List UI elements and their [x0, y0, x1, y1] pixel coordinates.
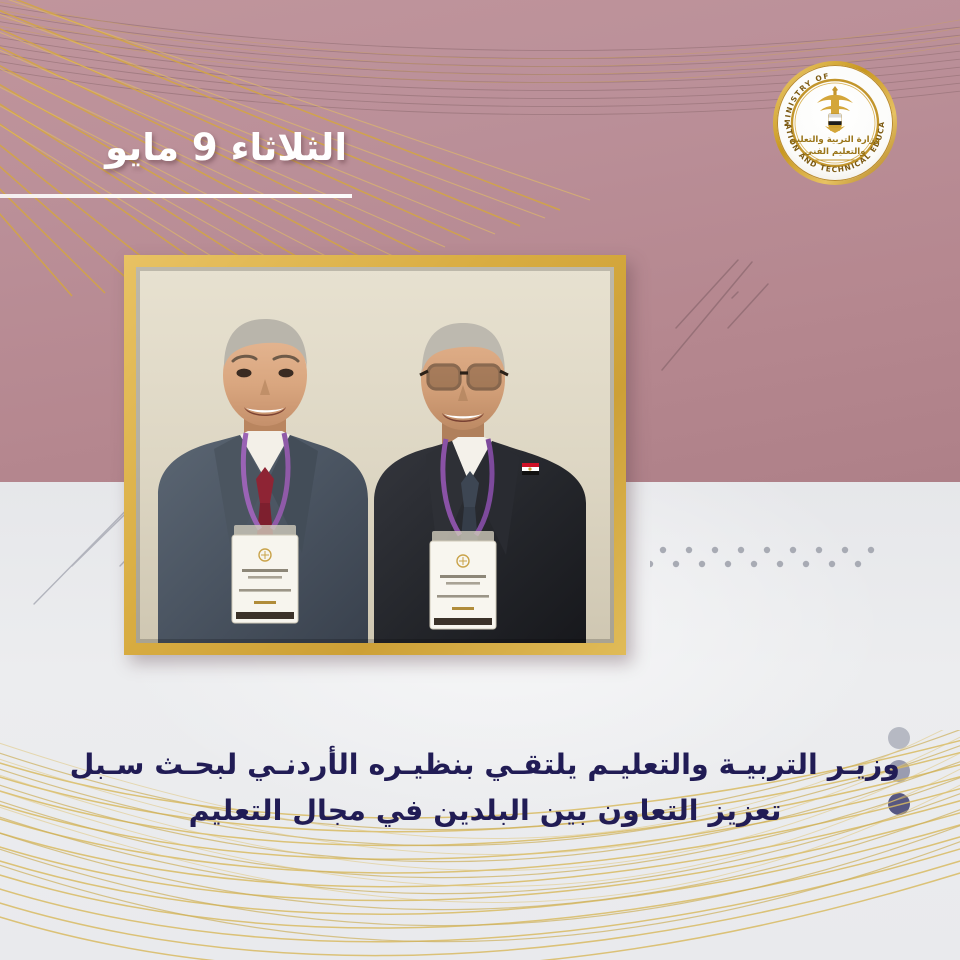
- headline-line-1: وزيـر التربيـة والتعليـم يلتقـي بنظيـره …: [70, 742, 900, 788]
- photo-frame: [124, 255, 626, 655]
- photo-illustration: [136, 267, 614, 643]
- svg-text:والتعليم الفني: والتعليم الفني: [804, 147, 865, 157]
- headline: وزيـر التربيـة والتعليـم يلتقـي بنظيـره …: [70, 742, 900, 834]
- dot-grid-pattern: [650, 542, 880, 578]
- headline-line-2: تعزيز التعاون بين البلدين في مجال التعلي…: [70, 788, 900, 834]
- meeting-photo: [136, 267, 614, 643]
- date-underline-rule: [0, 194, 352, 198]
- ministry-logo: EDUCATION AND TECHNICAL EDUCATION MINIST…: [770, 58, 900, 188]
- date-block: الثلاثاء 9 مايو: [105, 128, 347, 169]
- diagonal-lines-right: [640, 258, 800, 388]
- badge-left: [232, 525, 298, 623]
- poster-canvas: الثلاثاء 9 مايو EDUCATION AND T: [0, 0, 960, 960]
- date-label: الثلاثاء 9 مايو: [105, 128, 347, 169]
- svg-text:وزارة التربية والتعليم: وزارة التربية والتعليم: [790, 135, 880, 145]
- egypt-flag-pin: [522, 463, 539, 475]
- badge-right: [430, 531, 496, 629]
